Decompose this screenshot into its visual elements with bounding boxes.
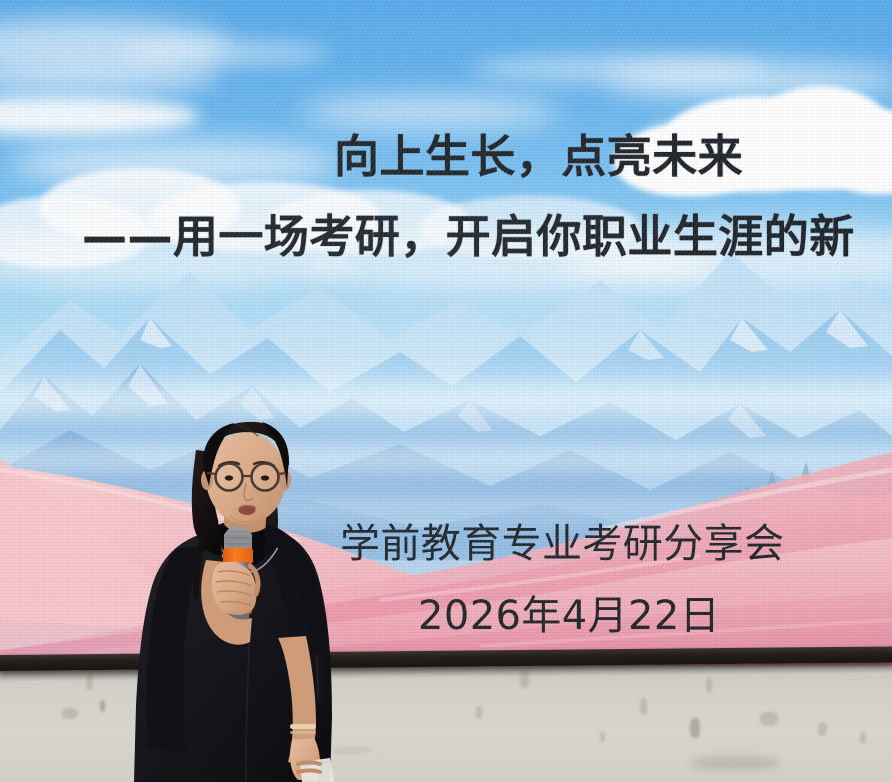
- screenshot-canvas: 向上生长，点亮未来 ——用一场考研，开启你职业生涯的新 学前教育专业考研分享会 …: [0, 0, 892, 782]
- presenter-figure: [0, 0, 892, 782]
- wrist-bracelet: [290, 724, 316, 729]
